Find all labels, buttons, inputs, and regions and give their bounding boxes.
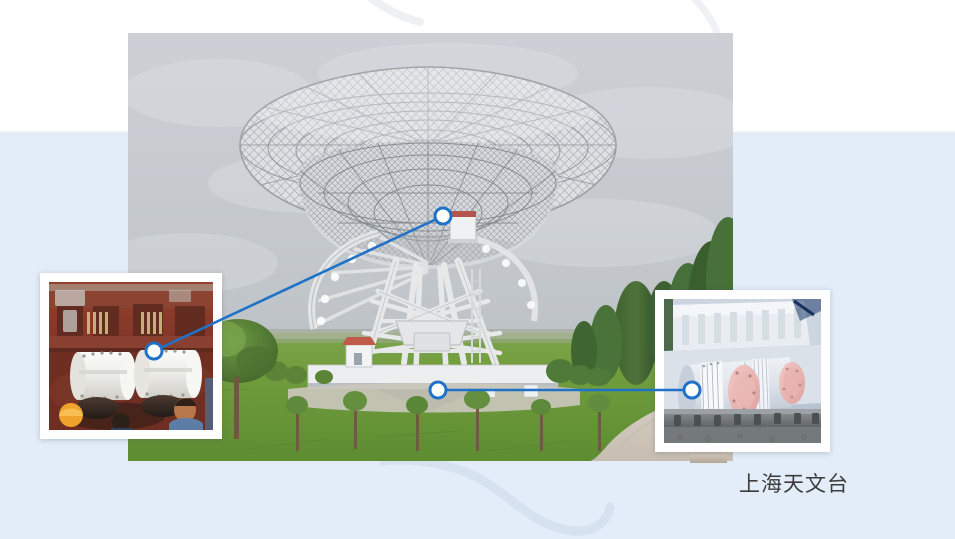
azimuth-drive-photo[interactable] [655,290,830,452]
slide-canvas: 上海天文台 [0,0,955,539]
azimuth-drive-image [664,299,821,443]
gearbox-maintenance-photo[interactable] [40,273,222,439]
caption-label: 上海天文台 [739,468,849,498]
decorative-accent-bar [690,455,727,463]
gearbox-maintenance-image [49,282,213,430]
